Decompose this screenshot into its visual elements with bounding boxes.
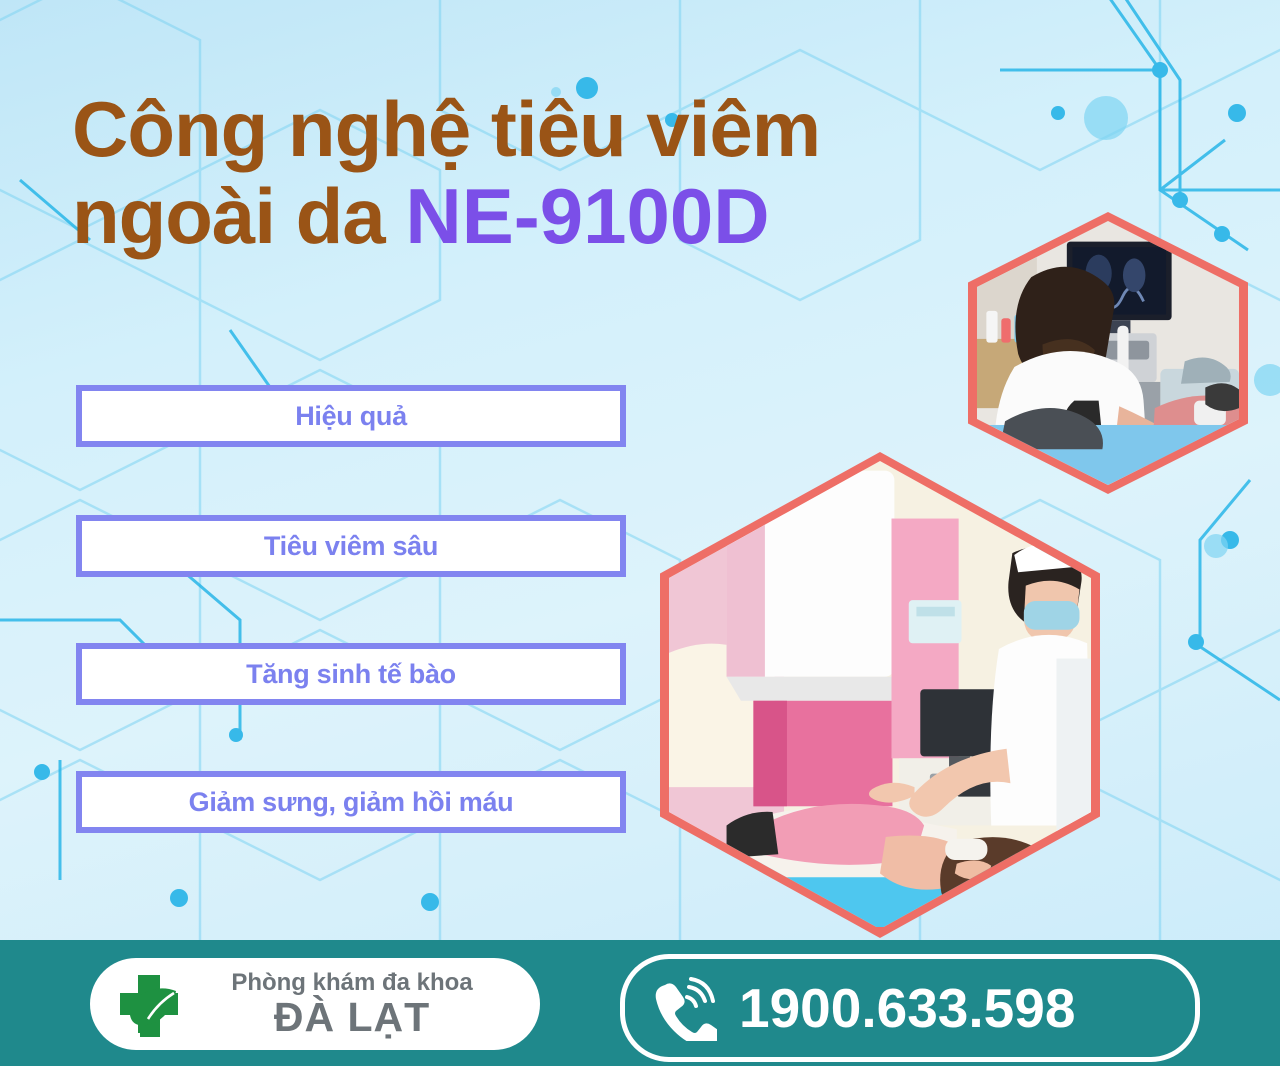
hotline-number: 1900.633.598 xyxy=(739,976,1075,1040)
feature-box-1[interactable]: Hiệu quả xyxy=(76,385,626,447)
ringing-phone-icon xyxy=(651,975,717,1041)
green-cross-leaf-icon xyxy=(112,967,186,1041)
feature-list: Hiệu quả Tiêu viêm sâu Tăng sinh tế bào … xyxy=(76,385,626,833)
headline: Công nghệ tiêu viêm ngoài da NE-9100D xyxy=(72,86,1002,261)
headline-line-1: Công nghệ tiêu viêm xyxy=(72,86,1002,173)
clinic-name-block: Phòng khám đa khoa ĐÀ LẠT xyxy=(186,971,540,1038)
ultrasound-room-illustration xyxy=(977,221,1239,485)
feature-label-4: Giảm sưng, giảm hồi máu xyxy=(189,787,514,818)
hex-photo-inner-top xyxy=(977,221,1239,485)
feature-label-2: Tiêu viêm sâu xyxy=(264,531,438,562)
clinic-logo-pill[interactable]: Phòng khám đa khoa ĐÀ LẠT xyxy=(90,958,540,1050)
feature-box-4[interactable]: Giảm sưng, giảm hồi máu xyxy=(76,771,626,833)
clinic-name: ĐÀ LẠT xyxy=(186,997,518,1038)
feature-box-2[interactable]: Tiêu viêm sâu xyxy=(76,515,626,577)
footer-bar: Phòng khám đa khoa ĐÀ LẠT 1900.633.598 xyxy=(0,940,1280,1066)
feature-label-3: Tăng sinh tế bào xyxy=(246,659,456,690)
headline-line-2: ngoài da NE-9100D xyxy=(72,173,1002,260)
hotline-pill[interactable]: 1900.633.598 xyxy=(620,954,1200,1062)
clinic-subtitle: Phòng khám đa khoa xyxy=(186,971,518,995)
feature-label-1: Hiệu quả xyxy=(295,401,407,432)
ultrasound-examination-photo xyxy=(968,212,1248,494)
hex-photo-inner-big xyxy=(669,461,1091,929)
feature-box-3[interactable]: Tăng sinh tế bào xyxy=(76,643,626,705)
product-model-name: NE-9100D xyxy=(405,172,769,260)
treatment-room-illustration xyxy=(669,461,1091,927)
headline-line-2-prefix: ngoài da xyxy=(72,172,405,260)
ne9100d-treatment-photo xyxy=(660,452,1100,938)
promo-banner: Công nghệ tiêu viêm ngoài da NE-9100D Hi… xyxy=(0,0,1280,1066)
